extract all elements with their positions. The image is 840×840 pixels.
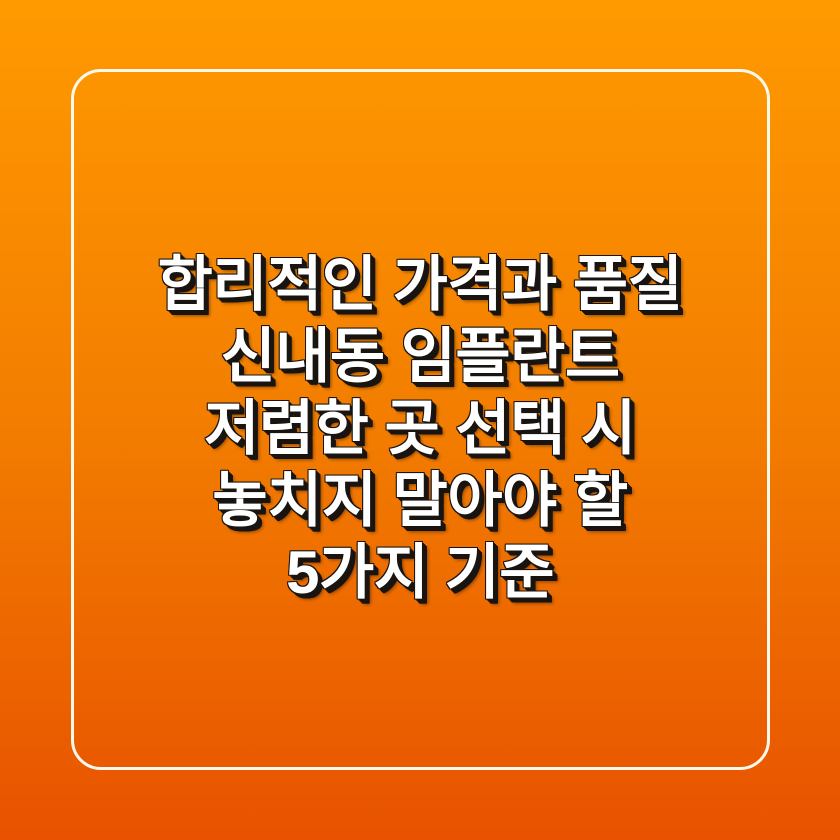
headline-line-3: 저렴한 곳 선택 시 <box>0 393 840 465</box>
headline-text-block: 합리적인 가격과 품질 신내동 임플란트 저렴한 곳 선택 시 놓치지 말아야 … <box>0 0 840 840</box>
headline-line-2: 신내동 임플란트 <box>0 321 840 393</box>
headline-line-5: 5가지 기준 <box>0 537 840 609</box>
thumbnail-canvas: 합리적인 가격과 품질 신내동 임플란트 저렴한 곳 선택 시 놓치지 말아야 … <box>0 0 840 840</box>
headline-line-4: 놓치지 말아야 할 <box>0 465 840 537</box>
headline-line-1: 합리적인 가격과 품질 <box>0 249 840 321</box>
